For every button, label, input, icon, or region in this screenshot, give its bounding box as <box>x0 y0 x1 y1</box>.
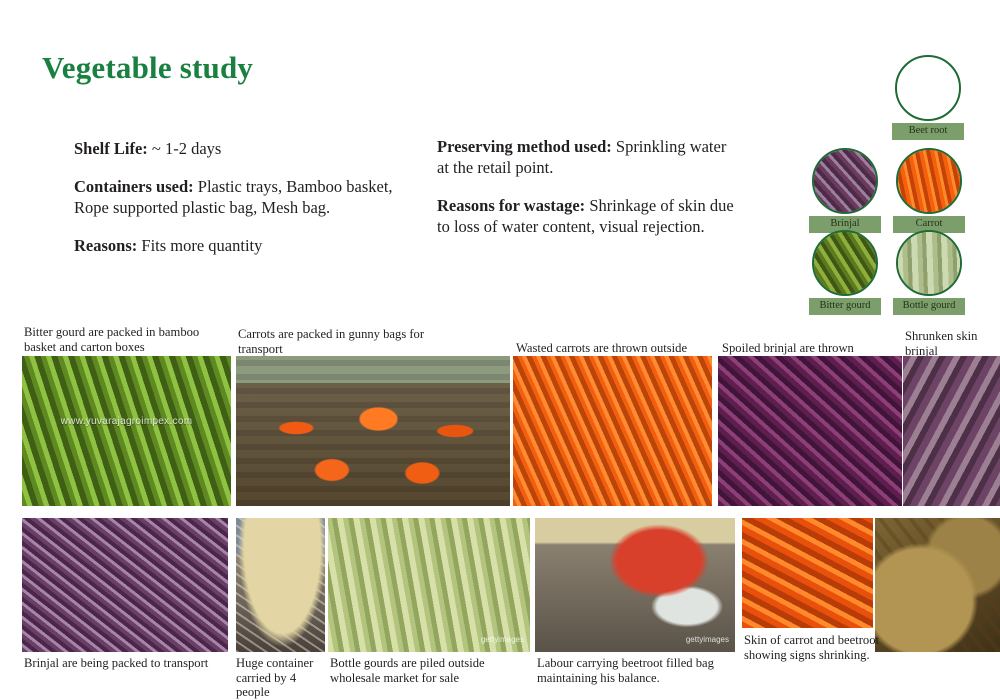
vegetable-badge-brinjal: Brinjal <box>812 148 878 233</box>
info-column-left: Shelf Life: ~ 1-2 days Containers used: … <box>74 138 414 273</box>
photo-brinjal-packing <box>22 518 228 652</box>
carrot-thumbnail <box>896 148 962 214</box>
photo-bottle-gourd-pile: gettyimages <box>328 518 530 652</box>
photo-shrunken-skin-brinjal <box>903 356 1000 506</box>
info-label: Reasons: <box>74 236 137 255</box>
photo-carrots-gunny-bags <box>236 356 510 506</box>
bitter-gourd-thumbnail <box>812 230 878 296</box>
info-item-shelf-life: Shelf Life: ~ 1-2 days <box>74 138 414 159</box>
slide-page: Vegetable study Shelf Life: ~ 1-2 days C… <box>0 0 1000 700</box>
photo-caption-carrots-gunny-bags: Carrots are packed in gunny bags for tra… <box>238 327 453 356</box>
photo-caption-huge-container: Huge container carried by 4 people <box>236 656 326 700</box>
photo-labour-beetroot: gettyimages <box>535 518 735 652</box>
vegetable-badge-bitter-gourd: Bitter gourd <box>812 230 878 315</box>
photo-caption-bottle-gourd-pile: Bottle gourds are piled outside wholesal… <box>330 656 530 685</box>
photo-watermark: gettyimages <box>481 635 524 644</box>
photo-spoiled-brinjal <box>718 356 902 506</box>
page-title: Vegetable study <box>42 50 253 86</box>
photo-shrunken-carrot-skin <box>742 518 873 628</box>
badge-label: Bottle gourd <box>893 298 965 315</box>
photo-caption-brinjal-packing: Brinjal are being packed to transport <box>24 656 224 671</box>
photo-caption-bitter-gourd-packed: Bitter gourd are packed in bamboo basket… <box>24 325 224 354</box>
photo-watermark: gettyimages <box>686 635 729 644</box>
badge-label: Beet root <box>892 123 964 140</box>
info-item-preserving-method: Preserving method used: Sprinkling water… <box>437 136 737 178</box>
bottle-gourd-thumbnail <box>896 230 962 296</box>
photo-caption-labour-beetroot: Labour carrying beetroot filled bag main… <box>537 656 742 685</box>
vegetable-badge-beetroot: Beet root <box>895 55 961 140</box>
vegetable-badge-bottle-gourd: Bottle gourd <box>896 230 962 315</box>
badge-label: Bitter gourd <box>809 298 881 315</box>
photo-caption-shrunken-skin-brinjal: Shrunken skin brinjal <box>905 329 997 358</box>
photo-shrunken-beetroot-skin <box>875 518 1000 652</box>
photo-bitter-gourd-packed: www.yuvarajagroimpex.com <box>22 356 231 506</box>
info-label: Shelf Life: <box>74 139 148 158</box>
info-label: Preserving method used: <box>437 137 612 156</box>
beetroot-thumbnail <box>895 55 961 121</box>
photo-caption-shrinking-skin: Skin of carrot and beetroot showing sign… <box>744 633 904 662</box>
photo-huge-container <box>236 518 325 652</box>
photo-caption-spoiled-brinjal: Spoiled brinjal are thrown <box>722 341 902 356</box>
photo-caption-wasted-carrots: Wasted carrots are thrown outside <box>516 341 716 356</box>
vegetable-badge-carrot: Carrot <box>896 148 962 233</box>
info-item-containers-used: Containers used: Plastic trays, Bamboo b… <box>74 176 414 218</box>
photo-wasted-carrots <box>513 356 712 506</box>
info-text: Fits more quantity <box>137 236 262 255</box>
brinjal-thumbnail <box>812 148 878 214</box>
info-text: ~ 1-2 days <box>148 139 222 158</box>
info-item-reasons: Reasons: Fits more quantity <box>74 235 414 256</box>
info-label: Reasons for wastage: <box>437 196 585 215</box>
info-label: Containers used: <box>74 177 194 196</box>
photo-watermark: www.yuvarajagroimpex.com <box>22 416 231 427</box>
info-item-reasons-for-wastage: Reasons for wastage: Shrinkage of skin d… <box>437 195 737 237</box>
info-column-right: Preserving method used: Sprinkling water… <box>437 136 737 254</box>
